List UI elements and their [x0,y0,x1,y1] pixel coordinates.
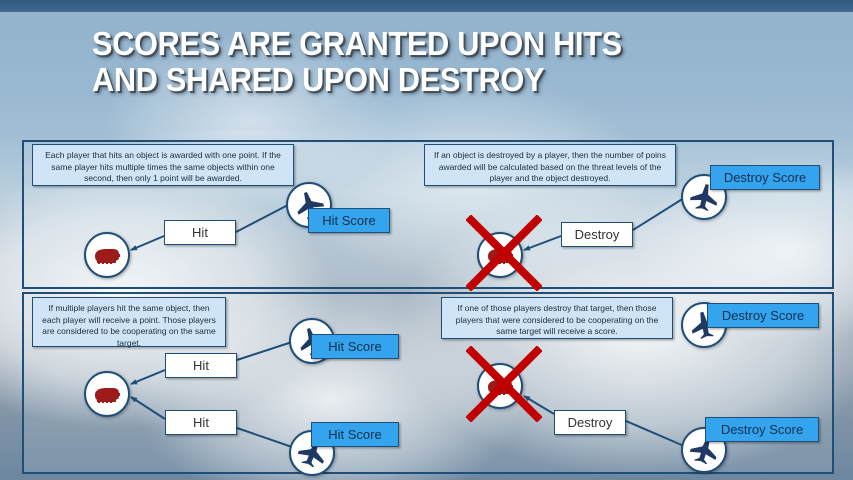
page-title: SCORES ARE GRANTED UPON HITS AND SHARED … [92,26,762,98]
label-destroy-score: Destroy Score [707,303,819,328]
label-hit-score: Hit Score [311,422,399,447]
target-icon [84,232,130,278]
target-icon [84,371,130,417]
note-hit-scoring-rule: Each player that hits an object is award… [32,144,294,186]
tank-silhouette-icon [485,376,515,396]
label-hit: Hit [164,220,236,245]
tank-silhouette-icon [92,245,122,265]
note-multiplayer-hit-rule: If multiple players hit the same object,… [32,297,226,347]
label-destroy: Destroy [554,410,626,435]
tank-silhouette-icon [485,245,515,265]
top-accent-bar [0,0,853,12]
label-hit: Hit [165,353,237,378]
slide-canvas: SCORES ARE GRANTED UPON HITS AND SHARED … [0,0,853,480]
label-hit: Hit [165,410,237,435]
note-destroy-scoring-rule: If an object is destroyed by a player, t… [424,144,676,186]
label-destroy-score: Destroy Score [710,165,820,190]
label-destroy-score: Destroy Score [705,417,819,442]
label-destroy: Destroy [561,222,633,247]
target-icon-destroyed [477,232,523,278]
label-hit-score: Hit Score [308,208,390,233]
note-multiplayer-destroy-rule: If one of those players destroy that tar… [441,297,673,339]
label-hit-score: Hit Score [311,334,399,359]
tank-silhouette-icon [92,384,122,404]
target-icon-destroyed [477,363,523,409]
